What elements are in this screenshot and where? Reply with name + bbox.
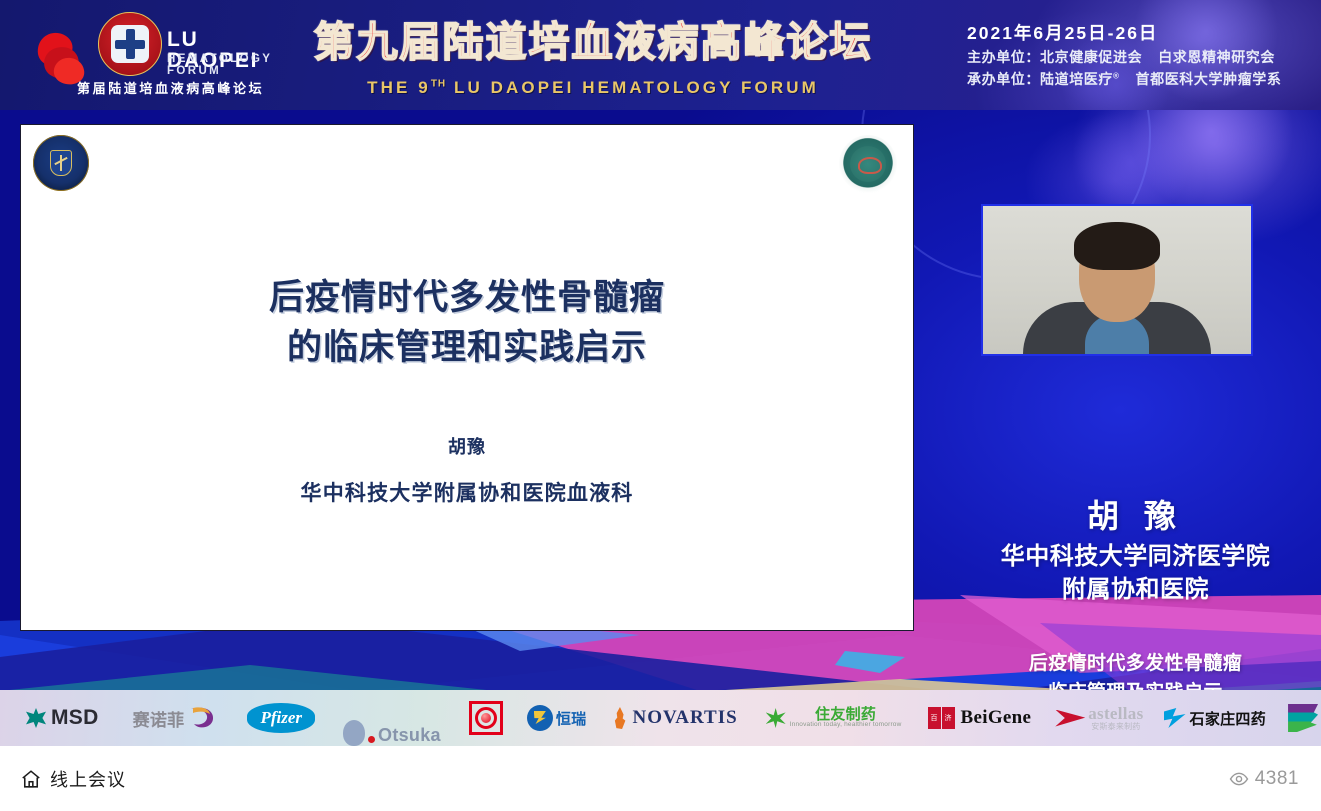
csco-teal-emblem-icon (839, 135, 897, 193)
sjz-swoosh-icon (1164, 708, 1186, 728)
organizer-1: 北京健康促进会 (1040, 49, 1142, 65)
speaker-topic-line1: 后疫情时代多发性骨髓瘤 (950, 650, 1321, 679)
sponsor-label: Otsuka (378, 725, 441, 746)
sponsor-pfizer[interactable]: Pfizer (243, 690, 319, 746)
sponsor-sjzsiyao[interactable]: 石家庄四药 (1160, 690, 1271, 746)
home-nav[interactable]: 线上会议 (20, 766, 126, 792)
sponsor-label: NOVARTIS (632, 707, 737, 729)
host-row: 承办单位：陆道培医疗®首都医科大学肿瘤学系 (967, 68, 1297, 90)
sanofi-swirl-icon (187, 704, 217, 732)
sponsor-label: 石家庄四药 (1190, 708, 1267, 729)
organizer-2: 白求恩精神研究会 (1158, 49, 1275, 65)
slide-author: 胡豫 (21, 433, 913, 459)
speaker-name: 胡 豫 (950, 491, 1321, 537)
sponsor-msd[interactable]: MSD (22, 690, 103, 746)
presentation-stage: 后疫情时代多发性骨髓瘤 的临床管理和实践启示 胡豫 华中科技大学附属协和医院血液… (0, 110, 1321, 745)
sponsor-otsuka[interactable]: Otsuka (339, 690, 445, 746)
presentation-slide[interactable]: 后疫情时代多发性骨髓瘤 的临床管理和实践启示 胡豫 华中科技大学附属协和医院血液… (20, 124, 914, 631)
wuhan-union-hospital-emblem-icon (33, 135, 89, 191)
live-conference-player: LU DAOPEI HEMATOLOGY FORUM 第届陆道培血液病高峰论坛 … (0, 0, 1321, 811)
conference-header-banner: LU DAOPEI HEMATOLOGY FORUM 第届陆道培血液病高峰论坛 … (0, 0, 1321, 110)
speaker-hair (1074, 222, 1160, 270)
forum-title-en: THE 9TH LU DAOPEI HEMATOLOGY FORUM (268, 78, 918, 98)
sumitomo-star-icon (766, 708, 786, 728)
slide-title-line1: 后疫情时代多发性骨髓瘤 (21, 273, 913, 323)
sponsor-beigene[interactable]: 百济 BeiGene (924, 690, 1036, 746)
lu-daopei-seal-icon (98, 12, 162, 76)
sponsor-label: Pfizer (247, 703, 315, 733)
sponsor-logo-bar: MSD 赛诺菲 Pfizer Otsuka 恒瑞 NOVARTIS (0, 690, 1321, 746)
sponsor-sumitomo[interactable]: 住友制药 Innovation today, healthier tomorro… (762, 690, 906, 746)
home-label: 线上会议 (50, 766, 126, 792)
speaker-video-feed[interactable] (981, 204, 1253, 356)
host-1: 陆道培医疗 (1040, 71, 1113, 87)
sponsor-novartis[interactable]: NOVARTIS (608, 690, 741, 746)
eye-icon (1229, 769, 1249, 789)
sponsor-sublabel: 安斯泰来制药 (1091, 723, 1140, 731)
host-2: 首都医科大学肿瘤学系 (1136, 71, 1282, 87)
speaker-affiliation-line1: 华中科技大学同济医学院 (950, 540, 1321, 573)
sponsor-sanofi[interactable]: 赛诺菲 (129, 690, 222, 746)
speaker-affiliation-line2: 附属协和医院 (950, 573, 1321, 606)
logo-ordinal-cn: 第 (77, 81, 93, 96)
organizer-row: 主办单位：北京健康促进会白求恩精神研究会 (967, 46, 1297, 68)
forum-title-cn: 第九届陆道培血液病高峰论坛 (268, 22, 918, 63)
hengrui-badge-icon (527, 705, 553, 731)
otsuka-blob-icon (343, 720, 365, 746)
beigene-seal-icon: 百济 (928, 707, 956, 729)
sponsor-sinopharm[interactable]: 国药集团 SINOPHARM (1284, 690, 1321, 746)
player-footer: 线上会议 4381 (0, 746, 1321, 811)
slide-title: 后疫情时代多发性骨髓瘤 的临床管理和实践启示 (21, 273, 913, 372)
red-square-target-icon (469, 701, 503, 735)
forum-title-en-post: LU DAOPEI HEMATOLOGY FORUM (446, 78, 819, 97)
logo-sub-en: HEMATOLOGY FORUM (167, 54, 272, 77)
view-count-value: 4381 (1255, 768, 1299, 790)
sponsor-astellas[interactable]: astellas 安斯泰来制药 (1051, 690, 1147, 746)
sponsor-red-circle[interactable] (465, 690, 507, 746)
logo-name-cn-rest: 届陆道培血液病高峰论坛 (93, 81, 265, 96)
sponsor-label: 恒瑞 (556, 708, 587, 729)
conference-info-block: 2021年6月25日-26日 主办单位：北京健康促进会白求恩精神研究会 承办单位… (967, 22, 1297, 90)
sponsor-hengrui[interactable]: 恒瑞 (523, 690, 591, 746)
logo-name-cn: 第届陆道培血液病高峰论坛 (77, 78, 264, 97)
sponsor-label: BeiGene (961, 707, 1032, 729)
forum-title-en-sup: TH (431, 78, 446, 89)
lu-daopei-logo: LU DAOPEI HEMATOLOGY FORUM 第届陆道培血液病高峰论坛 (25, 8, 255, 104)
host-1-registered-mark: ® (1113, 71, 1120, 80)
otsuka-dot-icon (368, 736, 375, 743)
home-icon (20, 768, 42, 790)
sponsor-label: astellas (1088, 705, 1143, 723)
host-label: 承办单位： (967, 71, 1040, 87)
sponsor-sublabel: Innovation today, healthier tomorrow (790, 722, 902, 729)
msd-cross-icon (26, 708, 46, 728)
forum-title-en-pre: THE 9 (367, 78, 431, 97)
speaker-affiliation: 华中科技大学同济医学院 附属协和医院 (950, 540, 1321, 606)
astellas-arrow-icon (1055, 710, 1085, 727)
sinopharm-wave-icon (1288, 704, 1318, 732)
sponsor-label: 赛诺菲 (133, 706, 185, 731)
conference-date: 2021年6月25日-26日 (967, 22, 1297, 46)
organizer-label: 主办单位： (967, 49, 1040, 65)
sponsor-label: MSD (51, 706, 99, 730)
viewer-count: 4381 (1229, 768, 1299, 790)
slide-title-line2: 的临床管理和实践启示 (21, 323, 913, 373)
novartis-flame-icon (612, 707, 627, 729)
slide-affiliation: 华中科技大学附属协和医院血液科 (21, 477, 913, 507)
sponsor-label: 住友制药 (815, 707, 876, 723)
